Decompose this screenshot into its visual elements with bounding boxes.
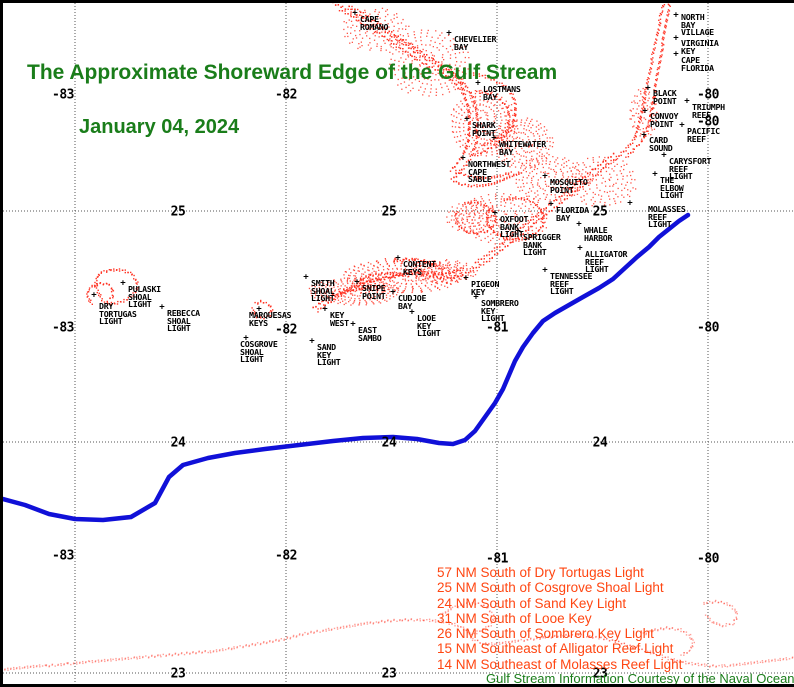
- place-label-mosquito-point: MOSQUITO POINT: [550, 179, 588, 194]
- distance-legend: 57 NM South of Dry Tortugas Light25 NM S…: [437, 565, 682, 672]
- place-label-rebecca-shoal-light: REBECCA SHOAL LIGHT: [167, 310, 200, 333]
- place-label-chevelier-bay: CHEVELIER BAY: [454, 36, 496, 51]
- place-marker-smith-shoal-light: +: [303, 274, 308, 283]
- place-label-northwest-cape-sable: NORTHWEST CAPE SABLE: [468, 161, 510, 184]
- place-marker-looe-key-light: +: [409, 309, 414, 318]
- place-marker-sand-key-light: +: [309, 338, 314, 347]
- axis-tick-label: -80: [697, 115, 719, 130]
- page-title: The Approximate Shoreward Edge of the Gu…: [27, 61, 557, 85]
- place-marker-pulaski-shoal-light: +: [120, 280, 125, 289]
- axis-tick-label: -80: [697, 321, 719, 336]
- axis-tick-label: 25: [593, 205, 608, 220]
- axis-tick-label: -83: [52, 88, 74, 103]
- place-marker-shark-point: +: [464, 116, 469, 125]
- place-marker-the-elbow-light: +: [652, 171, 657, 180]
- place-label-whitewater-bay: WHITEWATER BAY: [499, 141, 546, 156]
- place-marker-key-west: +: [322, 306, 327, 315]
- legend-entry-1: 25 NM South of Cosgrove Shoal Light: [437, 580, 682, 595]
- place-marker-tennessee-reef-light: +: [542, 267, 547, 276]
- place-marker-sprigger-bank-light: +: [515, 228, 520, 237]
- place-marker-cape-florida: +: [673, 51, 678, 60]
- place-marker-carysfort-reef-light: +: [661, 152, 666, 161]
- place-marker-alligator-reef-light: +: [577, 245, 582, 254]
- place-label-black-point: BLACK POINT: [653, 90, 676, 105]
- place-label-north-bay-village: NORTH BAY VILLAGE: [681, 14, 714, 37]
- place-marker-black-point: +: [645, 85, 650, 94]
- axis-tick-label: 25: [171, 205, 186, 220]
- place-label-tennessee-reef-light: TENNESSEE REEF LIGHT: [550, 273, 592, 296]
- legend-entry-2: 24 NM South of Sand Key Light: [437, 596, 682, 611]
- axis-tick-label: 25: [382, 205, 397, 220]
- place-label-sand-key-light: SAND KEY LIGHT: [317, 344, 340, 367]
- place-label-virginia-key: VIRGINIA KEY: [681, 40, 719, 55]
- place-marker-rebecca-shoal-light: +: [159, 304, 164, 313]
- axis-tick-label: 24: [593, 436, 608, 451]
- place-marker-triumph-reef: +: [684, 98, 689, 107]
- place-label-looe-key-light: LOOE KEY LIGHT: [417, 315, 440, 338]
- place-label-molasses-reef-light: MOLASSES REEF LIGHT: [648, 206, 686, 229]
- place-label-dry-tortugas-light: DRY TORTUGAS LIGHT: [99, 303, 137, 326]
- place-marker-north-bay-village: +: [673, 12, 678, 21]
- place-label-cape-romano: CAPE ROMANO: [360, 16, 388, 31]
- place-label-content-keys: CONTENT KEYS: [403, 261, 436, 276]
- place-marker-cudjoe-bay: +: [390, 289, 395, 298]
- axis-tick-label: 23: [171, 667, 186, 682]
- place-marker-whale-harbor: +: [576, 221, 581, 230]
- axis-tick-label: 24: [171, 436, 186, 451]
- place-marker-northwest-cape-sable: +: [460, 155, 465, 164]
- place-label-the-elbow-light: THE ELBOW LIGHT: [660, 177, 683, 200]
- map-date: January 04, 2024: [79, 116, 239, 139]
- place-marker-virginia-key: +: [673, 35, 678, 44]
- legend-entry-5: 15 NM Southeast of Alligator Reef Light: [437, 641, 682, 656]
- place-label-lostmans-bay: LOSTMANS BAY: [483, 86, 521, 101]
- credit-line: Gulf Stream Information Courtesy of the …: [486, 671, 794, 686]
- axis-tick-label: -80: [697, 88, 719, 103]
- place-marker-east-sambo: +: [350, 321, 355, 330]
- axis-tick-label: -81: [486, 321, 508, 336]
- axis-tick-label: -82: [275, 323, 297, 338]
- legend-entry-3: 31 NM South of Looe Key: [437, 611, 682, 626]
- place-marker-pigeon-key: +: [463, 275, 468, 284]
- place-label-smith-shoal-light: SMITH SHOAL LIGHT: [311, 280, 334, 303]
- axis-tick-label: -82: [275, 549, 297, 564]
- place-marker-content-keys: +: [395, 255, 400, 264]
- place-label-pacific-reef: PACIFIC REEF: [687, 128, 720, 143]
- place-label-cape-florida: CAPE FLORIDA: [681, 57, 714, 72]
- place-label-sprigger-bank-light: SPRIGGER BANK LIGHT: [523, 234, 561, 257]
- place-label-florida-bay: FLORIDA BAY: [556, 207, 589, 222]
- place-label-cosgrove-shoal-light: COSGROVE SHOAL LIGHT: [240, 341, 278, 364]
- axis-tick-label: -82: [275, 88, 297, 103]
- place-marker-molasses-reef-light: +: [627, 200, 632, 209]
- place-marker-sombrero-key-light: +: [473, 294, 478, 303]
- place-marker-mosquito-point: +: [542, 173, 547, 182]
- place-marker-card-sound: +: [641, 132, 646, 141]
- place-marker-convoy-point: +: [642, 108, 647, 117]
- place-label-snipe-point: SNIPE POINT: [362, 285, 385, 300]
- axis-tick-label: 24: [382, 436, 397, 451]
- place-label-east-sambo: EAST SAMBO: [358, 327, 381, 342]
- place-marker-cape-romano: +: [352, 10, 357, 19]
- legend-entry-4: 26 NM South of Sombrero Key Light: [437, 626, 682, 641]
- place-label-key-west: KEY WEST: [330, 312, 349, 327]
- place-marker-chevelier-bay: +: [446, 30, 451, 39]
- axis-tick-label: 23: [382, 667, 397, 682]
- legend-entry-0: 57 NM South of Dry Tortugas Light: [437, 565, 682, 580]
- place-marker-snipe-point: +: [354, 279, 359, 288]
- place-marker-dry-tortugas-light: +: [91, 292, 96, 301]
- place-marker-oxfoot-bank-light: +: [492, 210, 497, 219]
- place-marker-florida-bay: +: [548, 201, 553, 210]
- axis-tick-label: -80: [697, 552, 719, 567]
- place-label-whale-harbor: WHALE HARBOR: [584, 227, 612, 242]
- place-label-sombrero-key-light: SOMBRERO KEY LIGHT: [481, 300, 519, 323]
- place-label-convoy-point: CONVOY POINT: [650, 113, 678, 128]
- axis-tick-label: -83: [52, 321, 74, 336]
- legend-entry-6: 14 NM Southeast of Molasses Reef Light: [437, 657, 682, 672]
- gulf-stream-map: +CAPE ROMANO+CHEVELIER BAY+LOSTMANS BAY+…: [0, 0, 794, 687]
- axis-tick-label: -83: [52, 549, 74, 564]
- place-marker-pacific-reef: +: [679, 122, 684, 131]
- place-marker-whitewater-bay: +: [491, 135, 496, 144]
